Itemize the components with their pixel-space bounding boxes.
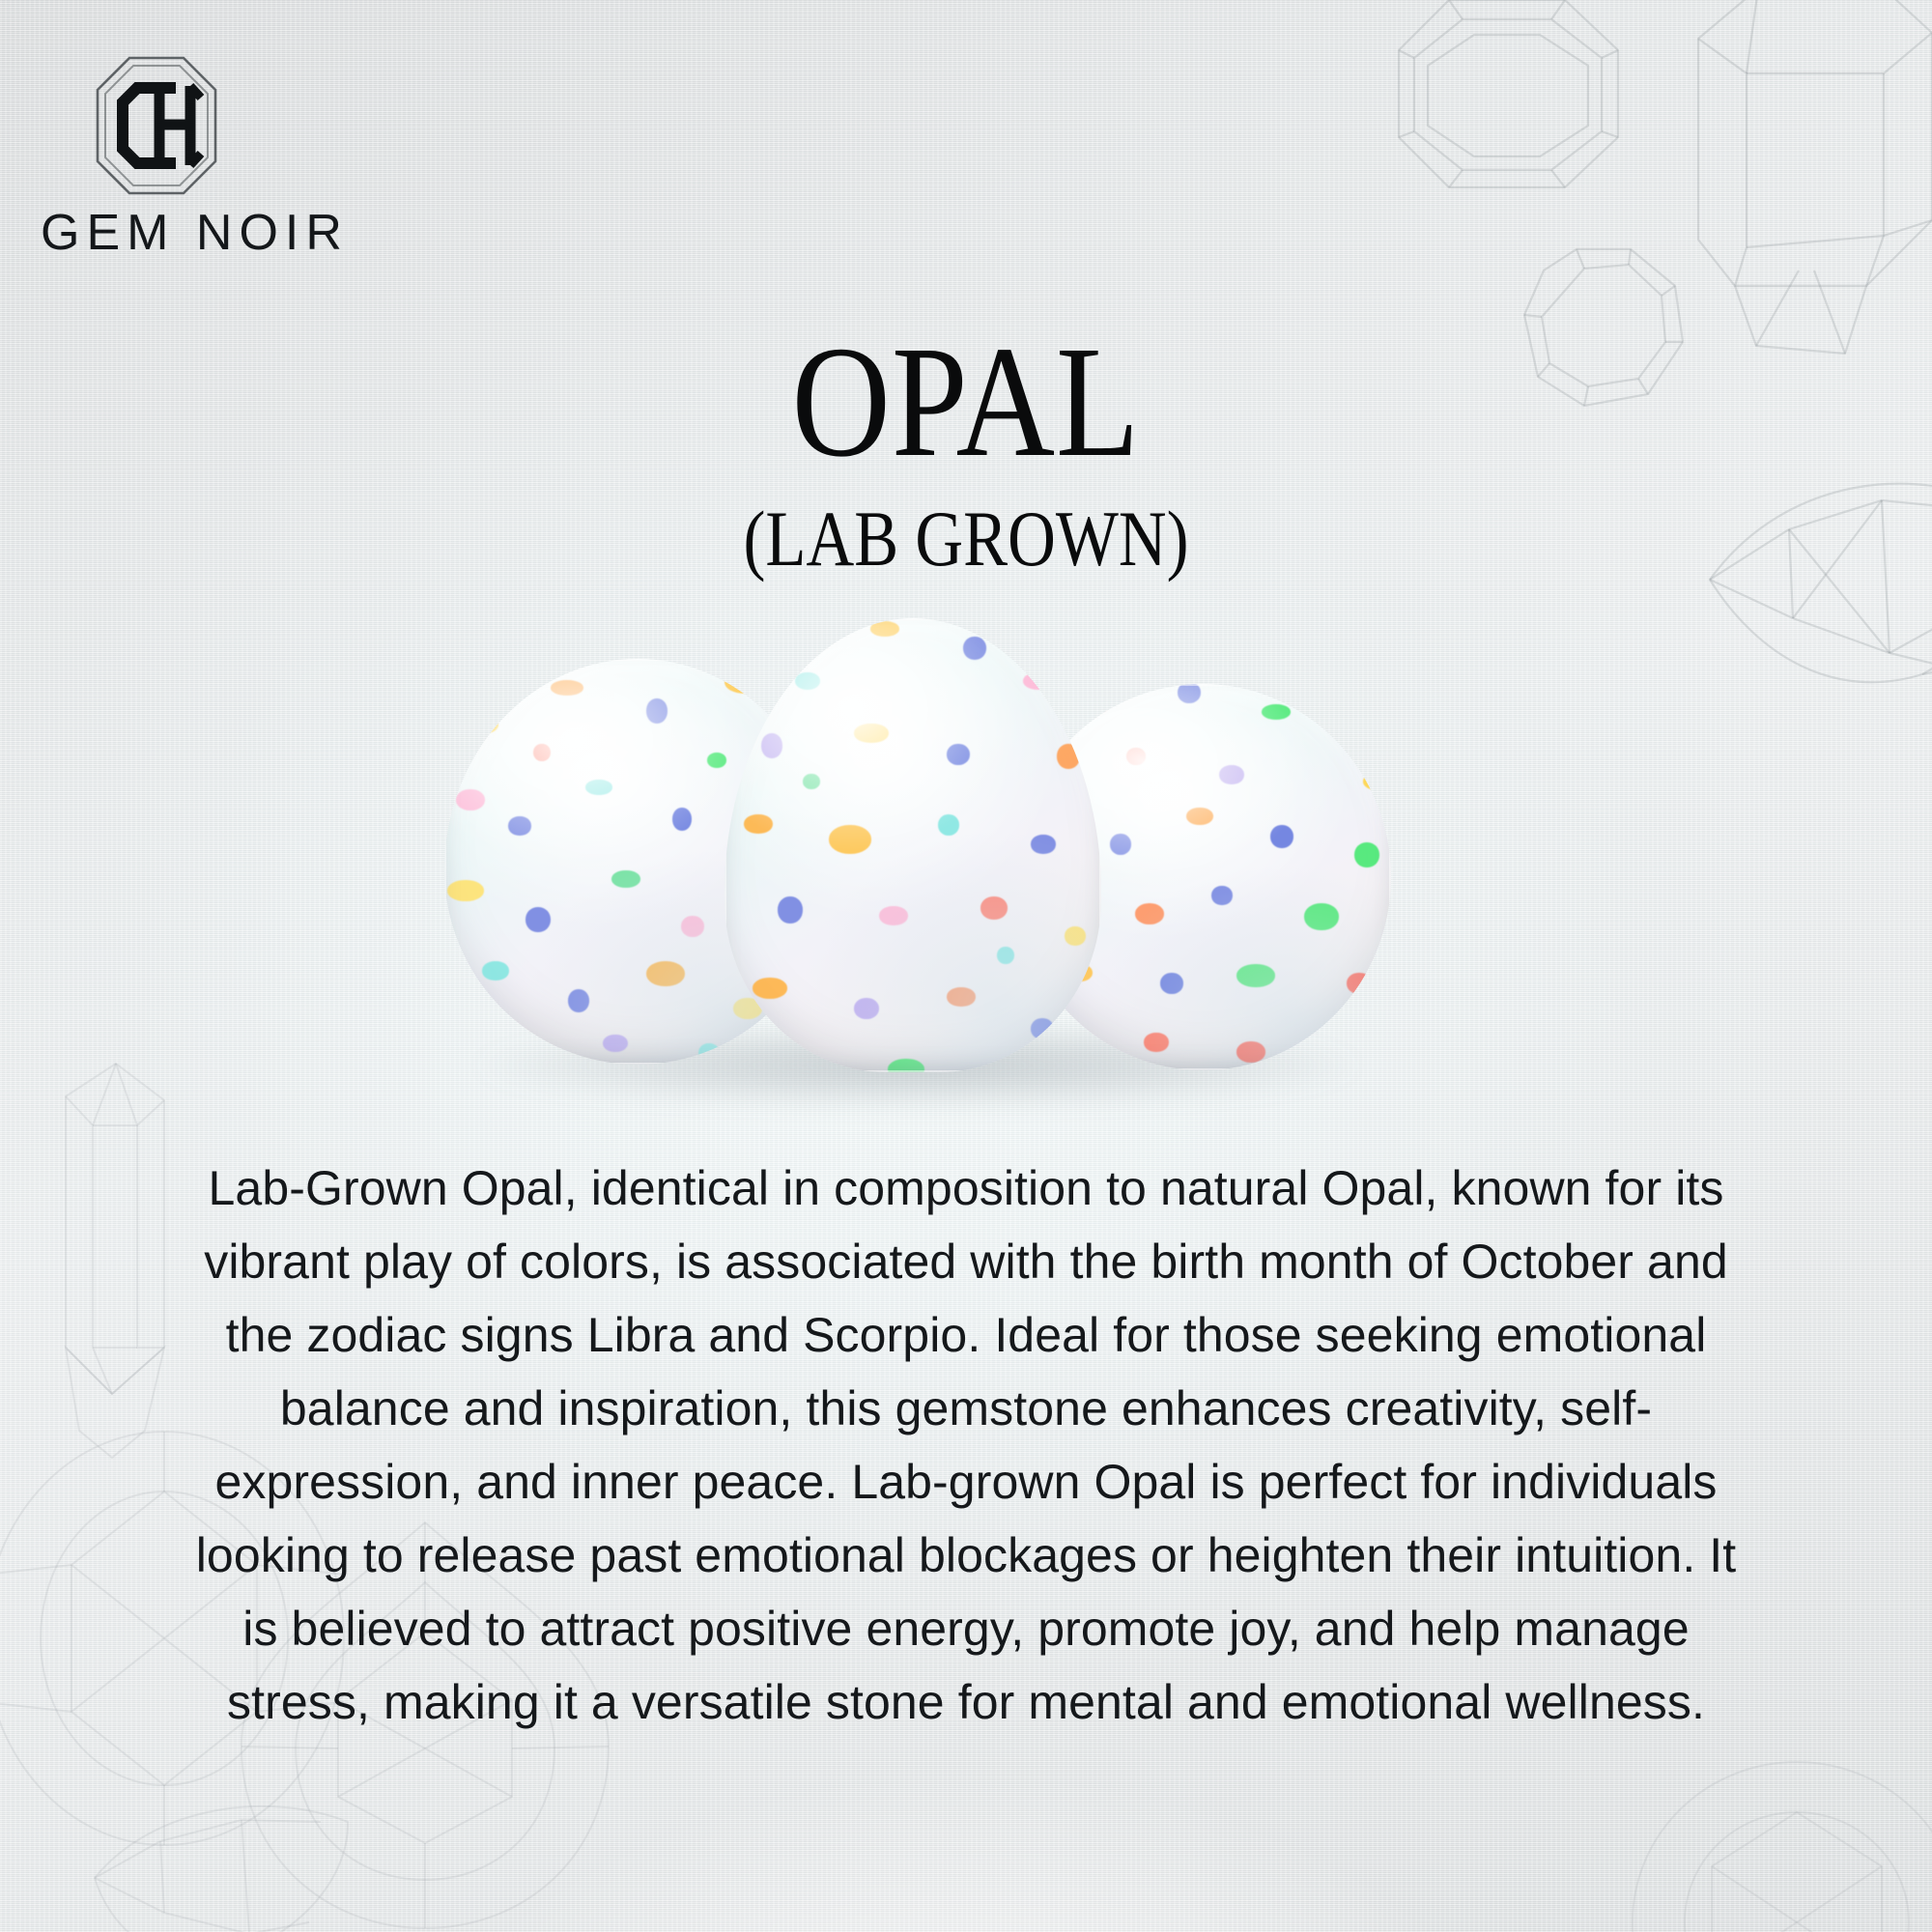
- title-block: OPAL (LAB GROWN): [0, 327, 1932, 579]
- brand-name: GEM NOIR: [35, 204, 363, 262]
- gem-monogram-icon: [93, 53, 220, 198]
- page-subtitle: (LAB GROWN): [155, 499, 1777, 579]
- round-brilliant-gem-icon: [1623, 1758, 1932, 1932]
- emerald-cut-gem-icon: [1381, 0, 1633, 203]
- page-title: OPAL: [135, 327, 1797, 478]
- marquise-gem-icon: [87, 1777, 357, 1932]
- opal-color-play: [724, 618, 1101, 1072]
- product-description: Lab-Grown Opal, identical in composition…: [174, 1151, 1758, 1739]
- opal-stone-group: [435, 618, 1497, 1121]
- baguette-gem-icon: [1642, 0, 1932, 367]
- brand-logo[interactable]: GEM NOIR: [35, 53, 363, 262]
- poster-canvas: GEM NOIR OPAL (LAB GROWN): [0, 0, 1932, 1932]
- pear-cabochon-center: [724, 618, 1101, 1072]
